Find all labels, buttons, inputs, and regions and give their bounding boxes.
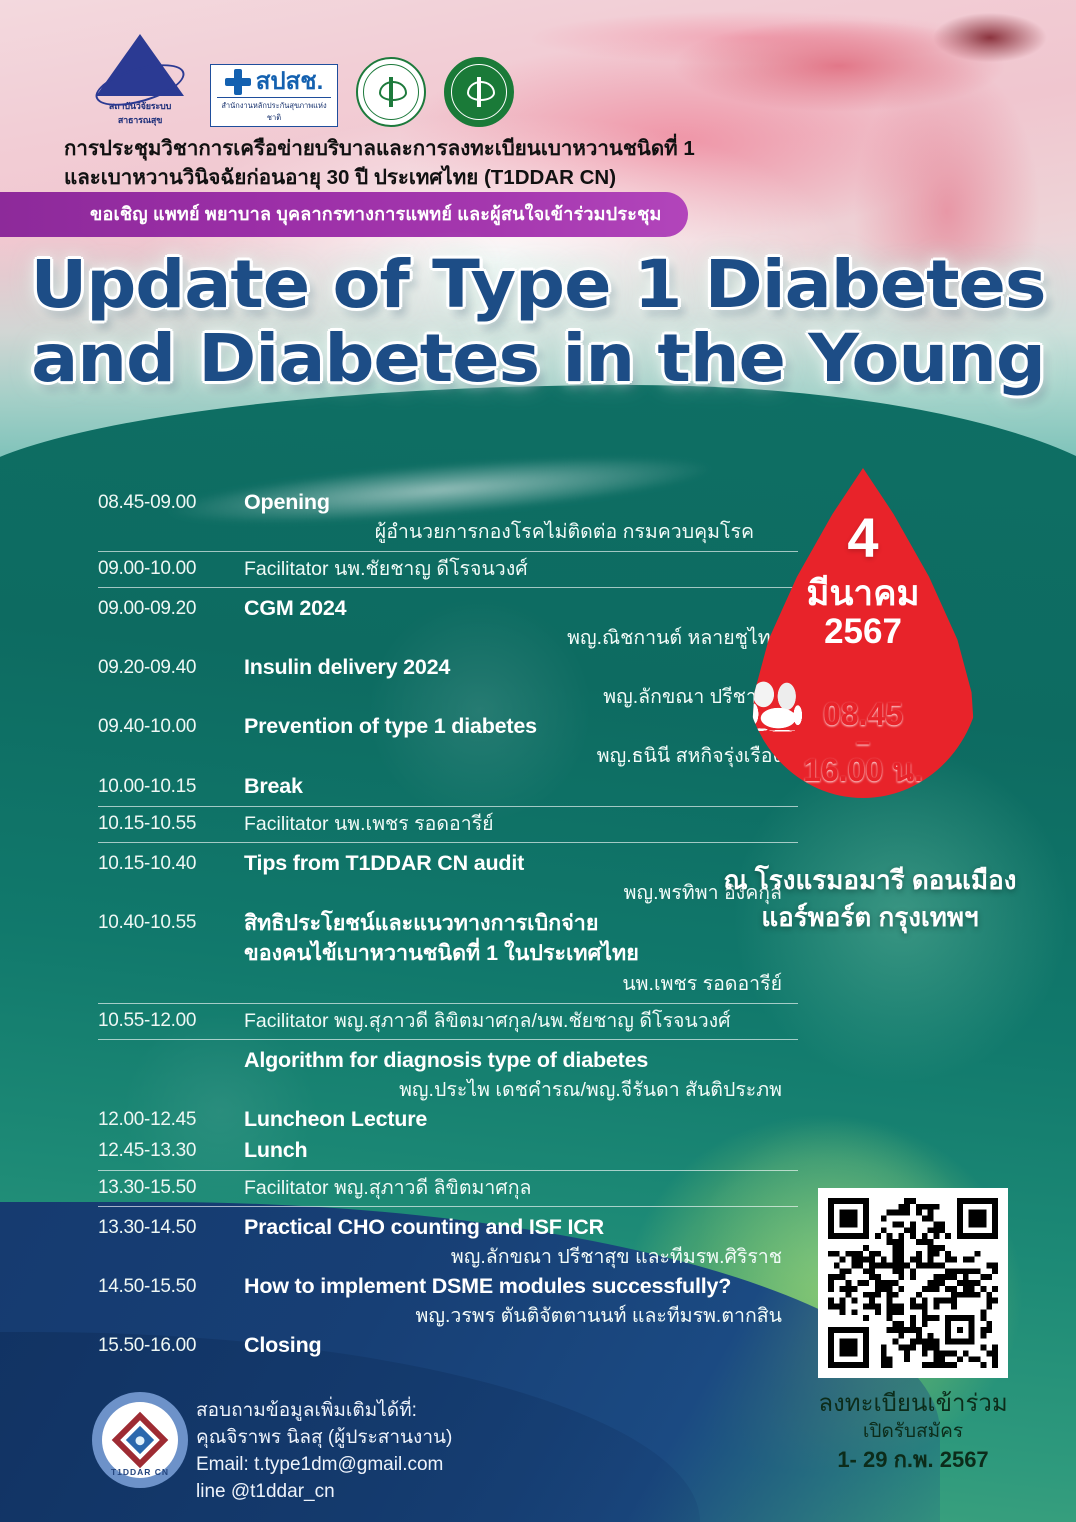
schedule-speaker: พญ.ณิชกานต์ หลายชูไทย (244, 624, 798, 652)
contact-coordinator: คุณจิราพร นิลสุ (ผู้ประสานงาน) (196, 1425, 452, 1452)
schedule-speaker: พญ.ประไพ เดชคำรณ/พญ.จีรันดา สันติประภพ (244, 1076, 798, 1104)
venue-text: ณ โรงแรมอมารี ดอนเมือง แอร์พอร์ต กรุงเทพ… (700, 862, 1040, 936)
schedule-time: 09.00-10.00 (98, 555, 244, 584)
organizer-logos: สถาบันวิจัยระบบสาธารณสุข สปสช. สำนักงานห… (88, 34, 514, 127)
schedule-time: 10.15-10.40 (98, 849, 244, 879)
schedule-speaker: พญ.ลักขณา ปรีชาสุข และทีมรพ.ศิริราช (244, 1243, 798, 1271)
schedule-row: 08.45-09.00Openingผู้อำนวยการกองโรคไม่ติ… (98, 488, 798, 546)
page-title-line2: and Diabetes in the Young (0, 322, 1076, 396)
schedule-topic: Luncheon Lecture (244, 1105, 798, 1134)
schedule-body: Facilitator พญ.สุภาวดี ลิขิตมาศกุล (244, 1174, 798, 1203)
schedule-speaker: พญ.วรพร ตันติจัตตานนท์ และทีมรพ.ตากสิน (244, 1302, 798, 1330)
qr-code[interactable] (818, 1188, 1008, 1378)
schedule-topic: Insulin delivery 2024 (244, 653, 798, 682)
conference-subtitle-line1: การประชุมวิชาการเครือข่ายบริบาลและการลงท… (64, 134, 724, 163)
caduceus-icon (467, 77, 491, 107)
schedule-body: Insulin delivery 2024พญ.ลักขณา ปรีชาสุข (244, 653, 798, 711)
schedule-topic: Algorithm for diagnosis type of diabetes (244, 1046, 798, 1075)
schedule-topic: ของคนไข้เบาหวานชนิดที่ 1 ในประเทศไทย (244, 938, 798, 968)
schedule-body: CGM 2024พญ.ณิชกานต์ หลายชูไทย (244, 594, 798, 652)
nhso-logo: สปสช. สำนักงานหลักประกันสุขภาพแห่งชาติ (210, 64, 338, 127)
schedule-speaker: พญ.ธนินี สหกิจรุ่งเรือง (244, 742, 798, 770)
facilitator-name: Facilitator นพ.เพชร รอดอารีย์ (244, 810, 798, 839)
conference-subtitle-line2: และเบาหวานวินิจฉัยก่อนอายุ 30 ปี ประเทศไ… (64, 163, 724, 192)
schedule-time: 10.55-12.00 (98, 1007, 244, 1036)
schedule-body: Facilitator นพ.ชัยชาญ ดีโรจนวงศ์ (244, 555, 798, 584)
schedule-body: Facilitator พญ.สุภาวดี ลิขิตมาศกุล/นพ.ชั… (244, 1007, 798, 1036)
schedule-time: 12.00-12.45 (98, 1105, 244, 1135)
schedule-topic: Closing (244, 1331, 798, 1360)
t1ddar-cn-logo: T1DDAR CN (92, 1392, 188, 1488)
schedule-time: 09.20-09.40 (98, 653, 244, 683)
registration-label: ลงทะเบียนเข้าร่วม (818, 1390, 1008, 1419)
qr-code-image[interactable] (828, 1198, 998, 1368)
schedule-topic: Opening (244, 488, 798, 517)
caduceus-icon (379, 77, 403, 107)
schedule-topic: Break (244, 772, 798, 801)
schedule-row: 13.30-14.50Practical CHO counting and IS… (98, 1213, 798, 1271)
schedule-row: 10.40-10.55สิทธิประโยชน์และแนวทางการเบิก… (98, 908, 798, 997)
conference-subtitle: การประชุมวิชาการเครือข่ายบริบาลและการลงท… (64, 134, 724, 192)
time-dash: – (745, 732, 981, 750)
schedule-body: Practical CHO counting and ISF ICRพญ.ลัก… (244, 1213, 798, 1271)
hsri-logo: สถาบันวิจัยระบบสาธารณสุข (88, 34, 192, 127)
schedule-row: 09.40-10.00Prevention of type 1 diabetes… (98, 712, 798, 770)
venue-line1: ณ โรงแรมอมารี ดอนเมือง (700, 862, 1040, 899)
schedule-time: 12.45-13.30 (98, 1136, 244, 1166)
schedule-time: 10.40-10.55 (98, 908, 244, 938)
invitation-banner: ขอเชิญ แพทย์ พยาบาล บุคลากรทางการแพทย์ แ… (0, 192, 688, 237)
schedule-row: 10.15-10.40Tips from T1DDAR CN auditพญ.พ… (98, 849, 798, 907)
date-year: 2567 (745, 613, 981, 652)
schedule-time: 13.30-15.50 (98, 1174, 244, 1203)
registration-period: 1- 29 ก.พ. 2567 (818, 1446, 1008, 1475)
schedule-body: Lunch (244, 1136, 798, 1165)
schedule-body: Facilitator นพ.เพชร รอดอารีย์ (244, 810, 798, 839)
schedule-topic: Lunch (244, 1136, 798, 1165)
contact-line1: สอบถามข้อมูลเพิ่มเติมได้ที่: (196, 1398, 452, 1425)
facilitator-name: Facilitator นพ.ชัยชาญ ดีโรจนวงศ์ (244, 555, 798, 584)
schedule-topic: Prevention of type 1 diabetes (244, 712, 798, 741)
schedule-topic: CGM 2024 (244, 594, 798, 623)
schedule-topic: How to implement DSME modules successful… (244, 1272, 798, 1301)
registration-caption: ลงทะเบียนเข้าร่วม เปิดรับสมัคร 1- 29 ก.พ… (818, 1390, 1008, 1475)
schedule-time: 09.00-09.20 (98, 594, 244, 624)
schedule-body: Algorithm for diagnosis type of diabetes… (244, 1046, 798, 1104)
schedule-row: 10.00-10.15Break (98, 772, 798, 802)
venue-line2: แอร์พอร์ต กรุงเทพฯ (700, 899, 1040, 936)
schedule-row: Algorithm for diagnosis type of diabetes… (98, 1046, 798, 1104)
schedule-row: 09.00-09.20CGM 2024พญ.ณิชกานต์ หลายชูไทย (98, 594, 798, 652)
schedule-time: 08.45-09.00 (98, 488, 244, 518)
schedule-time: 15.50-16.00 (98, 1331, 244, 1361)
schedule-body: Prevention of type 1 diabetesพญ.ธนินี สห… (244, 712, 798, 770)
schedule-row: 12.00-12.45Luncheon Lecture (98, 1105, 798, 1135)
schedule-speaker: ผู้อำนวยการกองโรคไม่ติดต่อ กรมควบคุมโรค (244, 518, 798, 546)
schedule-time: 10.00-10.15 (98, 772, 244, 802)
event-time-range: 08.45 – 16.00 น. (745, 698, 981, 786)
schedule-speaker: พญ.ลักขณา ปรีชาสุข (244, 683, 798, 711)
schedule-body: Luncheon Lecture (244, 1105, 798, 1134)
contact-line: line @t1ddar_cn (196, 1479, 452, 1506)
schedule-body: How to implement DSME modules successful… (244, 1272, 798, 1330)
facilitator-row: 10.55-12.00Facilitator พญ.สุภาวดี ลิขิตม… (98, 1003, 798, 1040)
registration-open-label: เปิดรับสมัคร (818, 1419, 1008, 1446)
schedule-body: Closing (244, 1331, 798, 1360)
schedule-time: 14.50-15.50 (98, 1272, 244, 1302)
facilitator-row: 10.15-10.55Facilitator นพ.เพชร รอดอารีย์ (98, 806, 798, 843)
moph-seal-logo (444, 57, 514, 127)
facilitator-name: Facilitator พญ.สุภาวดี ลิขิตมาศกุล (244, 1174, 798, 1203)
conference-poster: สถาบันวิจัยระบบสาธารณสุข สปสช. สำนักงานห… (0, 0, 1076, 1522)
schedule-time (98, 1046, 244, 1047)
facilitator-row: 13.30-15.50Facilitator พญ.สุภาวดี ลิขิตม… (98, 1170, 798, 1207)
registration-block[interactable]: ลงทะเบียนเข้าร่วม เปิดรับสมัคร 1- 29 ก.พ… (818, 1188, 1008, 1475)
t1ddar-cn-logo-text: T1DDAR CN (102, 1467, 178, 1477)
page-title-line1: Update of Type 1 Diabetes (30, 246, 1045, 323)
page-title: Update of Type 1 Diabetes and Diabetes i… (0, 248, 1076, 396)
medical-cross-icon (225, 69, 251, 95)
contact-info: สอบถามข้อมูลเพิ่มเติมได้ที่: คุณจิราพร น… (196, 1398, 452, 1506)
dms-seal-logo (356, 57, 426, 127)
nhso-logo-title: สปสช. (256, 70, 324, 94)
schedule-row: 15.50-16.00Closing (98, 1331, 798, 1361)
schedule-row: 14.50-15.50How to implement DSME modules… (98, 1272, 798, 1330)
nhso-logo-caption: สำนักงานหลักประกันสุขภาพแห่งชาติ (217, 97, 331, 124)
schedule-list: 08.45-09.00Openingผู้อำนวยการกองโรคไม่ติ… (98, 488, 798, 1362)
schedule-speaker: นพ.เพชร รอดอารีย์ (244, 970, 798, 998)
diamond-icon (112, 1412, 169, 1469)
schedule-body: Openingผู้อำนวยการกองโรคไม่ติดต่อ กรมควบ… (244, 488, 798, 546)
schedule-time: 10.15-10.55 (98, 810, 244, 839)
schedule-time: 13.30-14.50 (98, 1213, 244, 1243)
facilitator-name: Facilitator พญ.สุภาวดี ลิขิตมาศกุล/นพ.ชั… (244, 1007, 798, 1036)
schedule-body: Break (244, 772, 798, 801)
schedule-topic: Practical CHO counting and ISF ICR (244, 1213, 798, 1242)
contact-email: Email: t.type1dm@gmail.com (196, 1452, 452, 1479)
schedule-row: 12.45-13.30Lunch (98, 1136, 798, 1166)
facilitator-row: 09.00-10.00Facilitator นพ.ชัยชาญ ดีโรจนว… (98, 551, 798, 588)
schedule-time: 09.40-10.00 (98, 712, 244, 742)
schedule-row: 09.20-09.40Insulin delivery 2024พญ.ลักขณ… (98, 653, 798, 711)
